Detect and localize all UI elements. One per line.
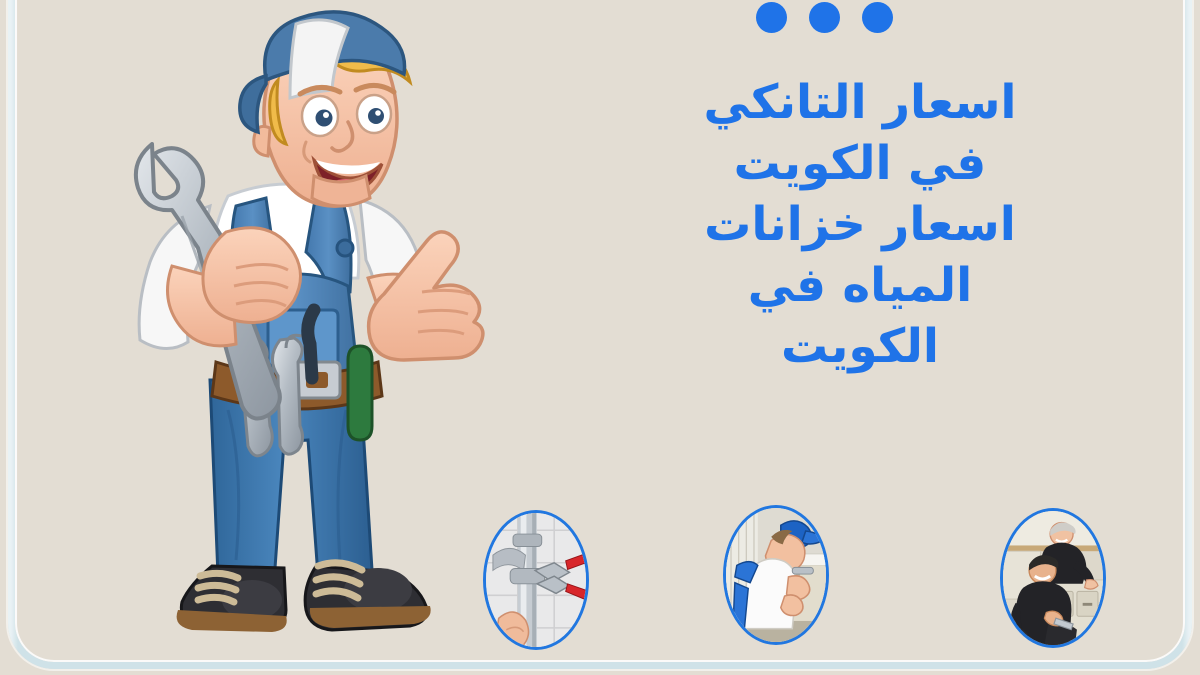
headline-text: اسعار التانكي في الكويت اسعار خزانات الم… bbox=[640, 72, 1080, 377]
dot-2 bbox=[809, 2, 840, 33]
photo-plumber-under-sink bbox=[723, 505, 829, 645]
photo-circle-row bbox=[0, 504, 1200, 654]
headline-line-4: المياه في bbox=[640, 255, 1080, 316]
mascot-overall-button bbox=[337, 240, 353, 256]
headline-line-5: الكويت bbox=[640, 316, 1080, 377]
photo-pipe-pliers bbox=[483, 510, 589, 650]
dot-3 bbox=[862, 2, 893, 33]
photo-two-technicians bbox=[1000, 508, 1106, 648]
mascot-left-fist bbox=[203, 228, 301, 323]
headline-line-1: اسعار التانكي bbox=[640, 72, 1080, 133]
mascot-cap-brim-back bbox=[240, 76, 266, 132]
headline-line-2: في الكويت bbox=[640, 133, 1080, 194]
headline-line-3: اسعار خزانات bbox=[640, 194, 1080, 255]
three-dots-decoration bbox=[756, 2, 893, 33]
dot-1 bbox=[756, 2, 787, 33]
poster-canvas: اسعار التانكي في الكويت اسعار خزانات الم… bbox=[0, 0, 1200, 675]
